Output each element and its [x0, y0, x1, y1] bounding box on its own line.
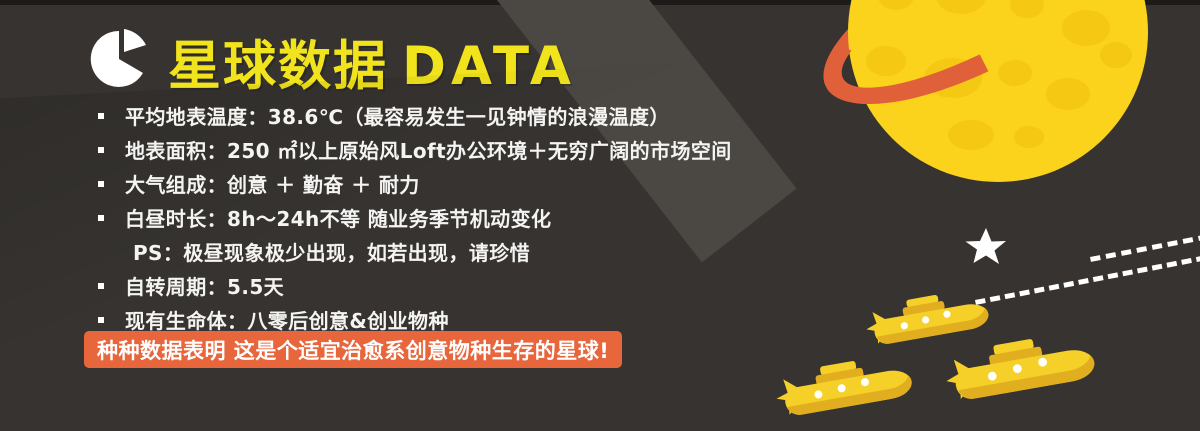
- dashed-trail-upper: [1090, 234, 1200, 262]
- data-bullet-list: 平均地表温度：38.6℃（最容易发生一见钟情的浪漫温度） 地表面积：250 ㎡以…: [98, 102, 732, 340]
- bullet-marker-icon: [98, 181, 104, 187]
- bullet-marker-placeholder-icon: [98, 249, 104, 255]
- page-title-cn: 星球数据: [168, 36, 388, 97]
- list-item-label: 平均地表温度：38.6℃（最容易发生一见钟情的浪漫温度）: [125, 102, 670, 132]
- bullet-marker-icon: [98, 147, 104, 153]
- bullet-marker-icon: [98, 215, 104, 221]
- list-item: 地表面积：250 ㎡以上原始风Loft办公环境＋无穷广阔的市场空间: [98, 136, 732, 170]
- conclusion-banner-label: 种种数据表明 这是个适宜治愈系创意物种生存的星球!: [97, 335, 609, 365]
- list-item: 平均地表温度：38.6℃（最容易发生一见钟情的浪漫温度）: [98, 102, 732, 136]
- list-item-label: 自转周期：5.5天: [125, 272, 284, 302]
- poster-canvas: 星球数据DATA 平均地表温度：38.6℃（最容易发生一见钟情的浪漫温度） 地表…: [0, 0, 1200, 431]
- bullet-marker-icon: [98, 283, 104, 289]
- list-item: 大气组成：创意 ＋ 勤奋 ＋ 耐力: [98, 170, 732, 204]
- list-item-label: 白昼时长：8h～24h不等 随业务季节机动变化: [125, 204, 551, 234]
- star-icon: [962, 222, 1008, 268]
- page-title: 星球数据DATA: [168, 24, 576, 100]
- submarine-2: [938, 333, 1128, 409]
- list-item-label: PS：极昼现象极少出现，如若出现，请珍惜: [125, 238, 530, 268]
- bullet-marker-icon: [98, 113, 104, 119]
- submarine-3: [768, 355, 943, 423]
- list-item: 自转周期：5.5天: [98, 272, 732, 306]
- list-item-label: 地表面积：250 ㎡以上原始风Loft办公环境＋无穷广阔的市场空间: [125, 136, 732, 166]
- list-item-note: PS：极昼现象极少出现，如若出现，请珍惜: [98, 238, 732, 272]
- yellow-planet: [820, 0, 1200, 212]
- list-item: 白昼时长：8h～24h不等 随业务季节机动变化: [98, 204, 732, 238]
- conclusion-banner: 种种数据表明 这是个适宜治愈系创意物种生存的星球!: [84, 331, 622, 368]
- page-title-en: DATA: [402, 36, 576, 97]
- pie-chart-icon: [88, 28, 150, 90]
- bullet-marker-icon: [98, 317, 104, 323]
- list-item-label: 大气组成：创意 ＋ 勤奋 ＋ 耐力: [125, 170, 420, 200]
